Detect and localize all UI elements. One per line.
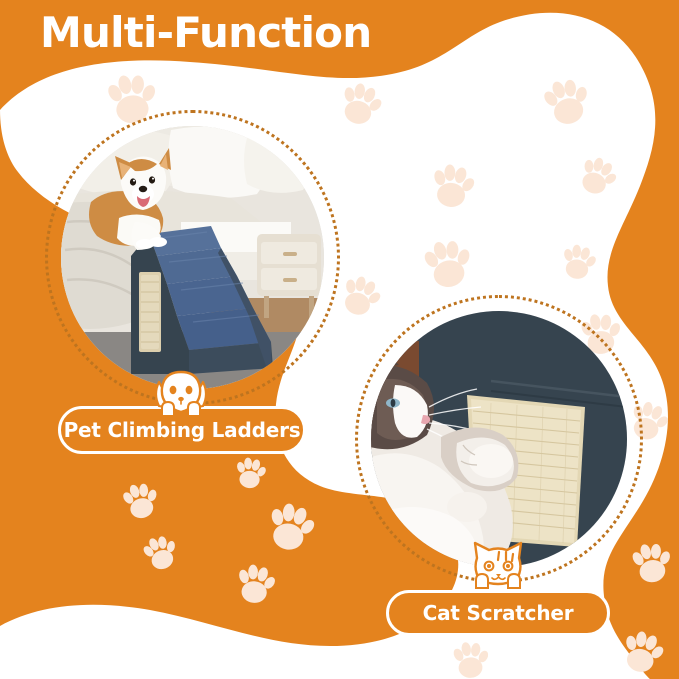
cat-face-icon	[468, 538, 528, 590]
dog-face-icon	[150, 368, 212, 418]
feature-label-text: Cat Scratcher	[423, 601, 574, 625]
photo-dog-on-stairs	[61, 126, 324, 389]
feature-photo-pet-climbing-ladders	[45, 110, 340, 405]
promo-banner: Multi-Function	[0, 0, 679, 679]
page-title: Multi-Function	[40, 8, 371, 57]
photo-cat-scratching	[371, 311, 627, 567]
feature-label-cat-scratcher[interactable]: Cat Scratcher	[386, 590, 610, 636]
feature-label-text: Pet Climbing Ladders	[64, 418, 301, 442]
